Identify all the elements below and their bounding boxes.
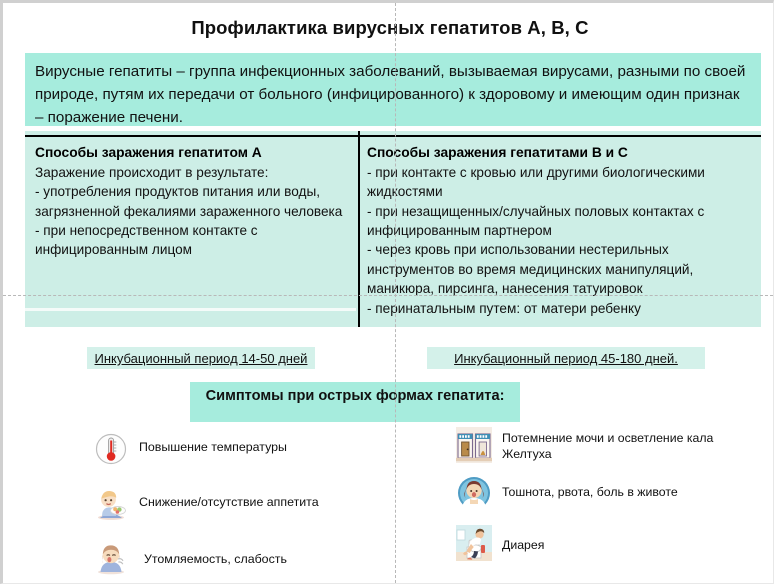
hepatitis-a-body: Заражение происходит в результате: - упо… <box>35 163 353 260</box>
slide-canvas: Профилактика вирусных гепатитов А, В, С … <box>0 0 774 584</box>
intro-text: Вирусные гепатиты – группа инфекционных … <box>35 60 751 129</box>
incubation-period-hepatitis-a: Инкубационный период 14-50 дней <box>87 347 315 369</box>
incubation-period-hepatitis-bc: Инкубационный период 45-180 дней. <box>427 347 705 369</box>
page-title: Профилактика вирусных гепатитов А, В, С <box>3 17 774 39</box>
list-item: Повышение температуры <box>93 431 393 467</box>
list-item-label: Тошнота, рвота, боль в животе <box>502 475 678 500</box>
list-item-label: Снижение/отсутствие аппетита <box>139 486 319 511</box>
intro-panel: Вирусные гепатиты – группа инфекционных … <box>25 53 761 126</box>
list-item-label: Утомляемость, слабость <box>139 540 287 568</box>
panel-column-divider <box>358 131 360 327</box>
panel-top-rule <box>25 135 761 137</box>
symptoms-header: Симптомы при острых формах гепатита: <box>190 382 520 422</box>
list-item: Утомляемость, слабость <box>93 540 393 576</box>
list-item: Снижение/отсутствие аппетита <box>93 486 393 522</box>
list-item: Диарея <box>456 525 756 561</box>
diarrhea-icon <box>456 525 492 561</box>
list-item-label: Потемнение мочи и осветление кала Желтух… <box>502 427 713 463</box>
urine-stool-color-icon <box>456 427 492 463</box>
fatigue-icon <box>93 540 129 576</box>
panel-white-strip <box>25 308 356 311</box>
list-item: Потемнение мочи и осветление кала Желтух… <box>456 427 756 463</box>
symptoms-list-right: Потемнение мочи и осветление кала Желтух… <box>456 427 756 574</box>
hepatitis-bc-body: - при контакте с кровью или другими биол… <box>367 163 753 319</box>
symptoms-list-left: Повышение температуры <box>93 431 393 584</box>
nausea-icon <box>456 475 492 511</box>
list-item: Тошнота, рвота, боль в животе <box>456 475 756 511</box>
hepatitis-a-column: Способы заражения гепатитом А Заражение … <box>35 143 353 260</box>
hepatitis-bc-column: Способы заражения гепатитами В и С - при… <box>367 143 753 318</box>
list-item-label: Повышение температуры <box>139 431 287 456</box>
list-item-label: Диарея <box>502 525 544 553</box>
hepatitis-a-heading: Способы заражения гепатитом А <box>35 143 353 163</box>
transmission-routes-panel: Способы заражения гепатитом А Заражение … <box>25 131 761 327</box>
hepatitis-bc-heading: Способы заражения гепатитами В и С <box>367 143 753 163</box>
thermometer-icon <box>93 431 129 467</box>
loss-of-appetite-icon <box>93 486 129 522</box>
